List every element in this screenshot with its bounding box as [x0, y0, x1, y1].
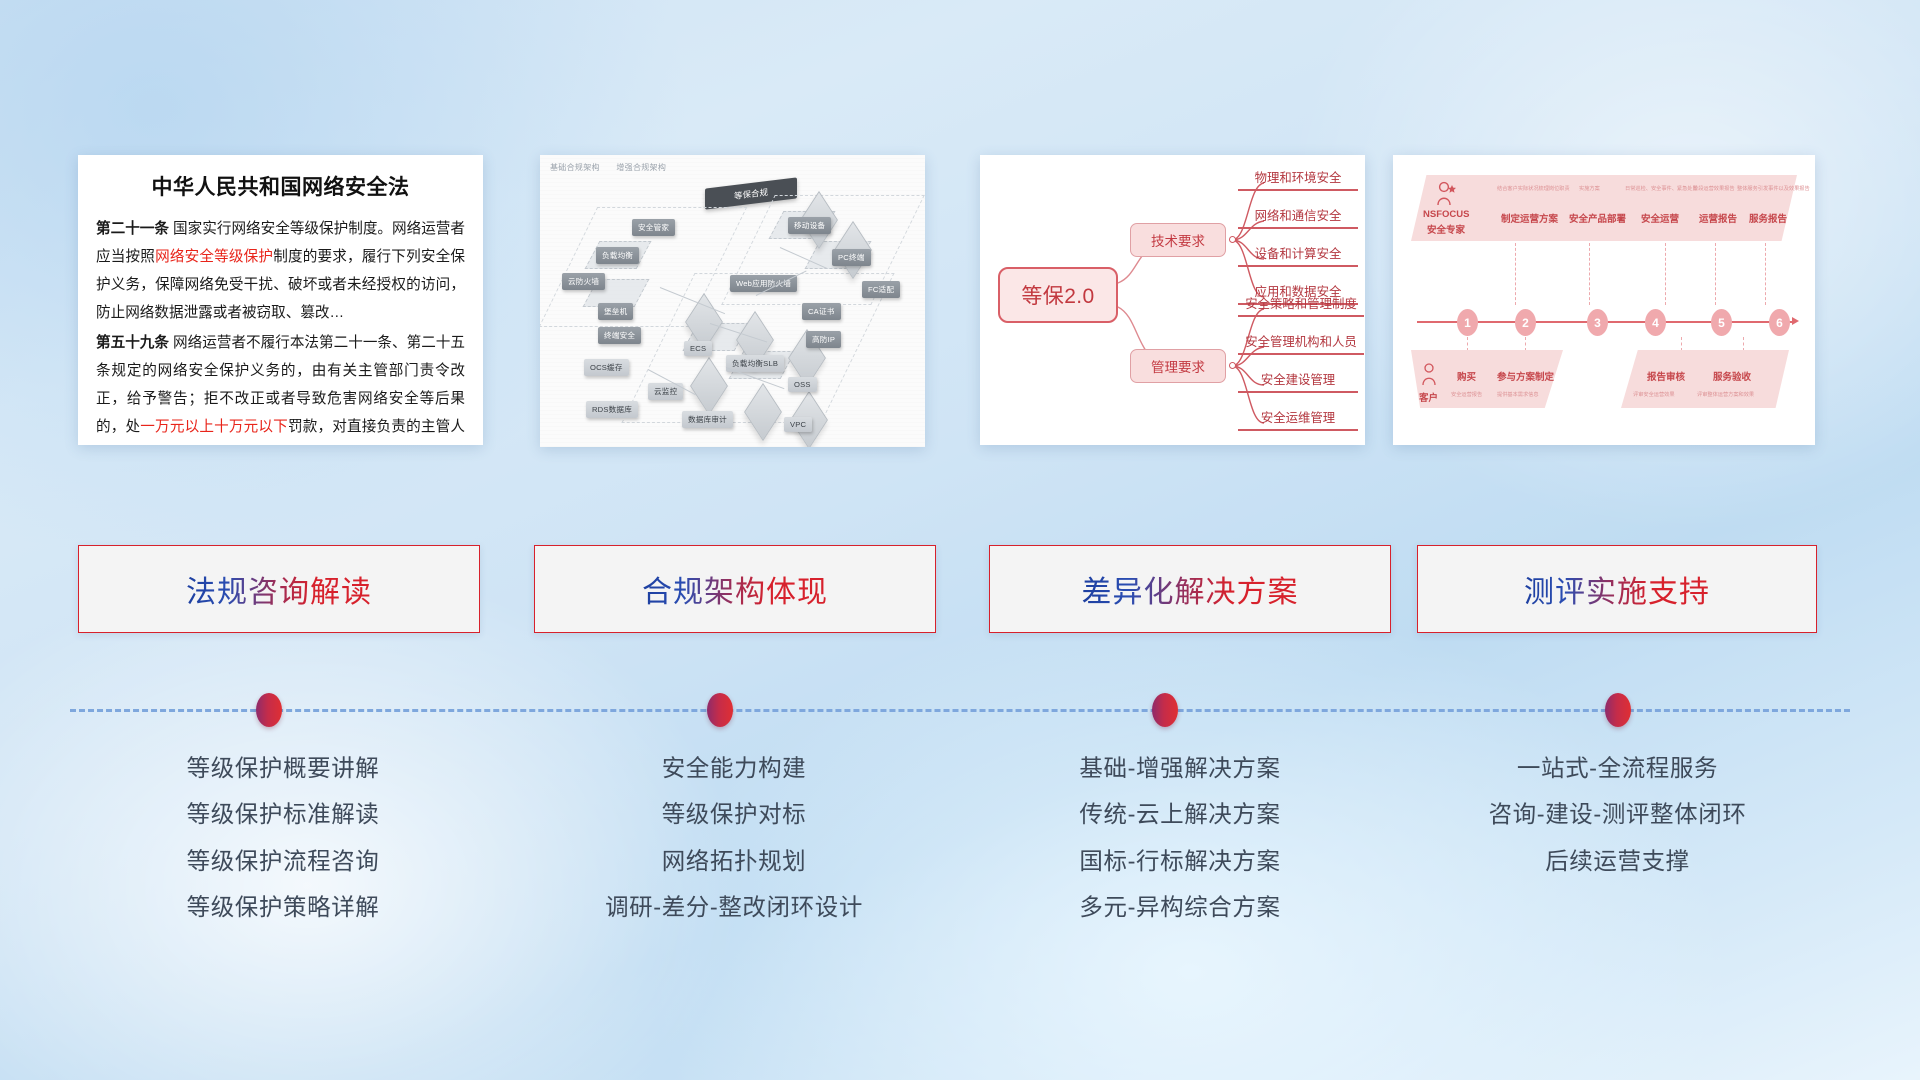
- arch-label-enhanced: 增强合规架构: [616, 163, 666, 172]
- arch-node-2: 云防火墙: [562, 273, 605, 290]
- vdash-3: [1665, 243, 1666, 305]
- headline-box-1[interactable]: 法规咨询解读: [78, 545, 480, 633]
- card-mindmap-dengbao[interactable]: 等保2.0 技术要求 物理和环境安全 网络和通信安全 设备: [980, 155, 1365, 445]
- list-item: 调研-差分-整改闭环设计: [534, 885, 934, 932]
- timeline-marker-4[interactable]: [1605, 693, 1631, 727]
- headline-label-2: 合规架构体现: [642, 567, 828, 611]
- vdash-1: [1515, 243, 1516, 305]
- top-step-0-sub: 结合客户实际状况梳理岗位职责: [1497, 185, 1570, 192]
- br-step-1-title: 服务验收: [1713, 369, 1751, 383]
- mindmap-leaf-t0: 物理和环境安全: [1238, 165, 1358, 191]
- arch-node-18: FC适配: [862, 281, 900, 298]
- step-number-1: 1: [1457, 309, 1478, 336]
- card-nsfocus-timeline[interactable]: NSFOCUS 安全专家 结合客户实际状况梳理岗位职责 制定运营方案 实施方案 …: [1393, 155, 1815, 445]
- arch-node-12: VPC: [784, 417, 812, 432]
- vdash-5: [1765, 243, 1766, 305]
- br-step-1-sub: 评审整体运营方案和效果: [1697, 391, 1754, 398]
- bl-step-0-title: 购买: [1457, 369, 1476, 383]
- arch-node-11: OSS: [788, 377, 817, 392]
- list-item: 一站式-全流程服务: [1410, 745, 1825, 792]
- headline-box-3[interactable]: 差异化解决方案: [989, 545, 1391, 633]
- list-item: 基础-增强解决方案: [980, 745, 1380, 792]
- vdash-2: [1589, 243, 1590, 305]
- step-number-5: 5: [1711, 309, 1732, 336]
- list-item: 安全能力构建: [534, 745, 934, 792]
- mindmap-branch-technical: 技术要求: [1130, 223, 1226, 257]
- br-step-0-title: 报告审核: [1647, 369, 1685, 383]
- detail-list-row: 等级保护概要讲解 等级保护标准解读 等级保护流程咨询 等级保护策略详解 安全能力…: [0, 745, 1920, 995]
- customer-role: 客户: [1419, 390, 1438, 404]
- step-number-6: 6: [1769, 309, 1790, 336]
- mindmap-leaf-m0: 安全策略和管理制度: [1238, 291, 1364, 317]
- timeline-marker-2[interactable]: [707, 693, 733, 727]
- list-item: 等级保护概要讲解: [88, 745, 478, 792]
- article-59-highlight-a: 一万元以上十万元以下: [140, 419, 288, 435]
- top-step-4-title: 服务报告: [1749, 211, 1787, 225]
- list-item: 国标-行标解决方案: [980, 838, 1380, 885]
- detail-column-2: 安全能力构建 等级保护对标 网络拓扑规划 调研-差分-整改闭环设计: [534, 745, 934, 931]
- expert-icon-svg: [1435, 181, 1457, 207]
- customer-icon-svg: [1421, 363, 1441, 387]
- top-step-4-sub: 整体服务引发事件以及效果报告: [1737, 185, 1810, 192]
- architecture-diagram: 基础合规架构 增强合规架构 等保合规: [540, 155, 925, 447]
- preview-card-row: 中华人民共和国网络安全法 第二十一条 国家实行网络安全等级保护制度。网络运营者应…: [0, 0, 1920, 460]
- law-text-block: 中华人民共和国网络安全法 第二十一条 国家实行网络安全等级保护制度。网络运营者应…: [78, 155, 483, 445]
- arch-node-7: CA证书: [802, 303, 841, 320]
- headline-label-4: 测评实施支持: [1524, 567, 1710, 611]
- mindmap-leaf-t2: 设备和计算安全: [1238, 241, 1358, 267]
- card-compliance-architecture[interactable]: 基础合规架构 增强合规架构 等保合规: [540, 155, 925, 447]
- arch-node-10: RDS数据库: [586, 401, 638, 418]
- arch-node-0: 安全管家: [632, 219, 675, 236]
- article-21-label: 第二十一条: [96, 221, 169, 237]
- mindmap-branch-management: 管理要求: [1130, 349, 1226, 383]
- article-21-highlight: 网络安全等级保护: [155, 249, 273, 265]
- vdash-4: [1715, 243, 1716, 305]
- mindmap-dot-management: [1229, 362, 1236, 369]
- card-cybersecurity-law[interactable]: 中华人民共和国网络安全法 第二十一条 国家实行网络安全等级保护制度。网络运营者应…: [78, 155, 483, 445]
- top-step-1-sub: 实施方案: [1579, 185, 1600, 192]
- headline-box-4[interactable]: 测评实施支持: [1417, 545, 1817, 633]
- list-item: 后续运营支撑: [1410, 838, 1825, 885]
- bl-step-1-title: 参与方案制定: [1497, 369, 1554, 383]
- mindmap-leaf-m3: 安全运维管理: [1238, 405, 1358, 431]
- detail-column-1: 等级保护概要讲解 等级保护标准解读 等级保护流程咨询 等级保护策略详解: [88, 745, 478, 931]
- top-step-3-title: 运营报告: [1699, 211, 1737, 225]
- top-step-3-sub: 阶段运营效果报告: [1693, 185, 1735, 192]
- timeline-strip: [0, 690, 1920, 730]
- arch-node-16: PC终端: [832, 249, 871, 266]
- timeline-marker-1[interactable]: [256, 693, 282, 727]
- top-step-0-title: 制定运营方案: [1501, 211, 1558, 225]
- list-item: 传统-云上解决方案: [980, 792, 1380, 839]
- list-item: 等级保护流程咨询: [88, 838, 478, 885]
- timeline-marker-3[interactable]: [1152, 693, 1178, 727]
- vdash-6: [1467, 337, 1468, 351]
- top-step-2-title: 安全运营: [1641, 211, 1679, 225]
- mindmap-leaf-m1: 安全管理机构和人员: [1238, 329, 1364, 355]
- law-title: 中华人民共和国网络安全法: [96, 171, 465, 201]
- headline-box-2[interactable]: 合规架构体现: [534, 545, 936, 633]
- mindmap-leaf-m2: 安全建设管理: [1238, 367, 1358, 393]
- bl-step-0-sub: 安全运营报告: [1451, 391, 1482, 398]
- arch-node-4: Web应用防火墙: [730, 275, 797, 292]
- arch-node-15: 移动设备: [788, 217, 831, 234]
- bl-step-1-sub: 提供基本需求信息: [1497, 391, 1539, 398]
- arch-label-basic: 基础合规架构: [550, 163, 600, 172]
- arch-node-1: 负载均衡: [596, 247, 639, 264]
- customer-person-icon: [1421, 363, 1441, 391]
- step-number-2: 2: [1515, 309, 1536, 336]
- detail-column-4: 一站式-全流程服务 咨询-建设-测评整体闭环 后续运营支撑: [1410, 745, 1825, 885]
- vdash-8: [1681, 337, 1682, 351]
- arch-node-13: 数据库审计: [682, 411, 733, 428]
- top-step-2-sub: 日常巡检、安全事件、紧急处置: [1625, 185, 1698, 192]
- br-step-0-sub: 评审安全运营效果: [1633, 391, 1675, 398]
- vdash-9: [1743, 337, 1744, 351]
- detail-column-3: 基础-增强解决方案 传统-云上解决方案 国标-行标解决方案 多元-异构综合方案: [980, 745, 1380, 931]
- step-number-4: 4: [1645, 309, 1666, 336]
- arch-node-5: ECS: [684, 341, 712, 356]
- nsfocus-timeline: NSFOCUS 安全专家 结合客户实际状况梳理岗位职责 制定运营方案 实施方案 …: [1393, 155, 1815, 445]
- arch-node-17: 终端安全: [598, 327, 641, 344]
- vdash-7: [1525, 337, 1526, 351]
- timeline-dashed-line: [70, 709, 1850, 712]
- list-item: 咨询-建设-测评整体闭环: [1410, 792, 1825, 839]
- headline-label-3: 差异化解决方案: [1082, 567, 1299, 611]
- mindmap: 等保2.0 技术要求 物理和环境安全 网络和通信安全 设备: [980, 155, 1365, 445]
- headline-label-1: 法规咨询解读: [186, 567, 372, 611]
- expert-role: 安全专家: [1427, 222, 1465, 236]
- expert-person-icon: [1435, 181, 1457, 211]
- law-article-21: 第二十一条 国家实行网络安全等级保护制度。网络运营者应当按照网络安全等级保护制度…: [96, 215, 465, 327]
- list-item: 等级保护标准解读: [88, 792, 478, 839]
- arch-node-8: 高防IP: [806, 331, 841, 348]
- list-item: 多元-异构综合方案: [980, 885, 1380, 932]
- list-item: 等级保护策略详解: [88, 885, 478, 932]
- headline-row: 法规咨询解读 合规架构体现 差异化解决方案 测评实施支持: [0, 545, 1920, 640]
- step-number-3: 3: [1587, 309, 1608, 336]
- list-item: 等级保护对标: [534, 792, 934, 839]
- article-59-label: 第五十九条: [96, 335, 169, 351]
- architecture-header-labels: 基础合规架构 增强合规架构: [550, 162, 680, 173]
- arch-node-3: 堡垒机: [598, 303, 633, 320]
- expert-name: NSFOCUS: [1423, 209, 1469, 220]
- top-step-1-title: 安全产品部署: [1569, 211, 1626, 225]
- mindmap-dot-technical: [1229, 236, 1236, 243]
- law-article-59: 第五十九条 网络运营者不履行本法第二十一条、第二十五条规定的网络安全保护义务的，…: [96, 329, 465, 445]
- list-item: 网络拓扑规划: [534, 838, 934, 885]
- arch-node-9: OCS缓存: [584, 359, 629, 376]
- slide-canvas: 中华人民共和国网络安全法 第二十一条 国家实行网络安全等级保护制度。网络运营者应…: [0, 0, 1920, 1080]
- mindmap-leaf-t1: 网络和通信安全: [1238, 203, 1358, 229]
